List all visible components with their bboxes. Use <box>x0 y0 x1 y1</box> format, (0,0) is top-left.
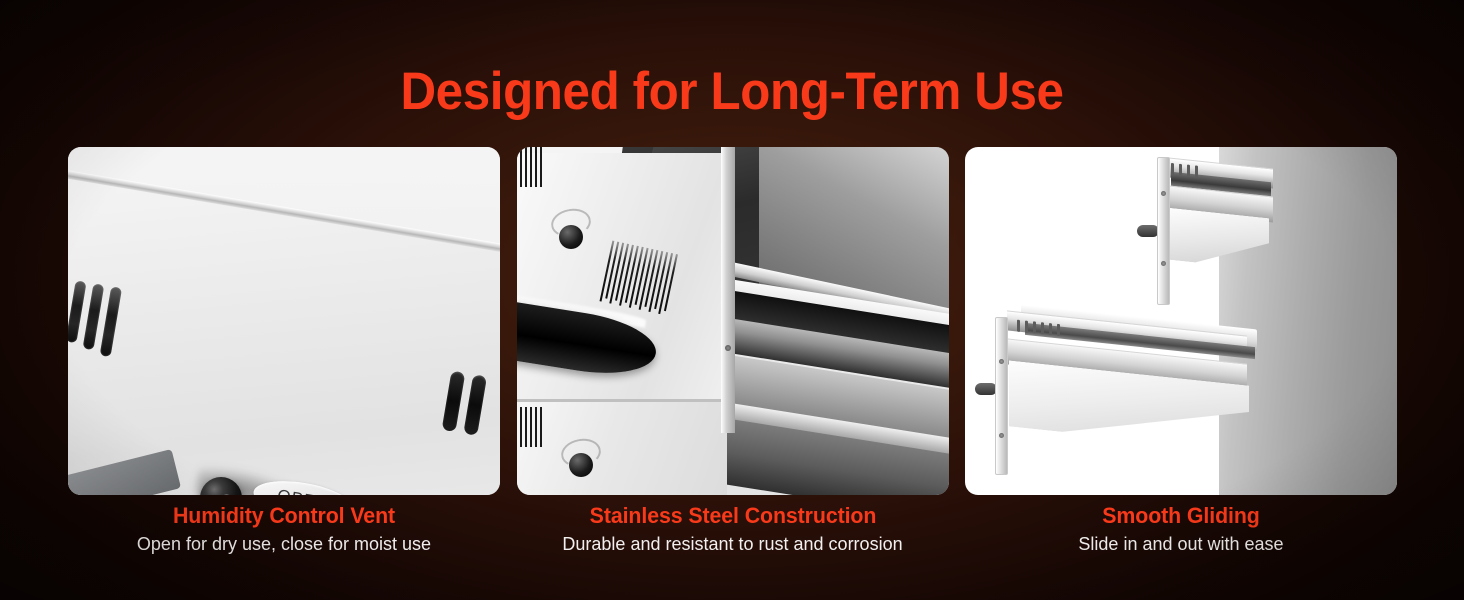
perforation <box>1049 323 1052 335</box>
control-knob-bottom <box>569 453 593 477</box>
feature-captions: Humidity Control Vent Open for dry use, … <box>68 503 1397 563</box>
feature-caption-3: Smooth Gliding Slide in and out with eas… <box>965 503 1397 563</box>
perforation <box>1033 321 1036 333</box>
perforation <box>1179 164 1182 176</box>
feature-title: Stainless Steel Construction <box>523 503 942 529</box>
vent-slit <box>525 147 527 187</box>
feature-caption-2: Stainless Steel Construction Durable and… <box>517 503 949 563</box>
slide-faceplate-bottom <box>995 317 1008 475</box>
perforation <box>1025 320 1028 332</box>
feature-title: Smooth Gliding <box>971 503 1390 529</box>
feature-subtitle: Slide in and out with ease <box>965 532 1397 557</box>
vent-slit <box>535 407 537 447</box>
feature-image-stainless-steel-construction <box>517 147 949 495</box>
perforation <box>1057 324 1060 336</box>
vent-slot <box>100 286 123 357</box>
drawer-corner-post <box>721 147 735 433</box>
vent-slot <box>463 374 487 435</box>
vent-slit <box>540 407 542 447</box>
perforation <box>1187 165 1190 177</box>
vent-slit <box>520 147 522 187</box>
perforation <box>1041 322 1044 334</box>
feature-image-smooth-gliding <box>965 147 1397 495</box>
banner-background: Designed for Long-Term Use OPEN <box>0 0 1464 600</box>
screw-icon <box>1161 191 1166 196</box>
page-title: Designed for Long-Term Use <box>51 63 1413 121</box>
perforation <box>1171 163 1174 175</box>
slide-end-pin-top <box>1137 225 1159 237</box>
feature-title: Humidity Control Vent <box>74 503 493 529</box>
perforation <box>1017 320 1020 332</box>
vent-slit <box>530 147 532 187</box>
vent-slit <box>540 147 542 187</box>
feature-image-gallery: OPEN <box>68 147 1397 495</box>
screw-icon <box>999 433 1004 438</box>
screw-icon <box>725 345 731 351</box>
feature-image-humidity-control-vent: OPEN <box>68 147 500 495</box>
screw-icon <box>999 359 1004 364</box>
vent-slits-bottom-left <box>517 407 555 453</box>
vent-slit <box>520 407 522 447</box>
feature-caption-1: Humidity Control Vent Open for dry use, … <box>68 503 500 563</box>
feature-subtitle: Durable and resistant to rust and corros… <box>517 532 949 557</box>
slide-end-pin-bottom <box>975 383 997 395</box>
slide-faceplate-top <box>1157 157 1170 305</box>
screw-icon <box>1161 261 1166 266</box>
feature-subtitle: Open for dry use, close for moist use <box>68 532 500 557</box>
vent-slit <box>535 147 537 187</box>
vent-slits-top-left <box>517 147 555 189</box>
vent-slots-left <box>68 280 137 353</box>
open-label-text: OPEN <box>276 486 331 495</box>
perforation <box>1195 165 1198 177</box>
vent-slit <box>530 407 532 447</box>
vent-slit <box>525 407 527 447</box>
vent-slots-right <box>441 371 500 442</box>
control-knob-top <box>559 225 583 249</box>
